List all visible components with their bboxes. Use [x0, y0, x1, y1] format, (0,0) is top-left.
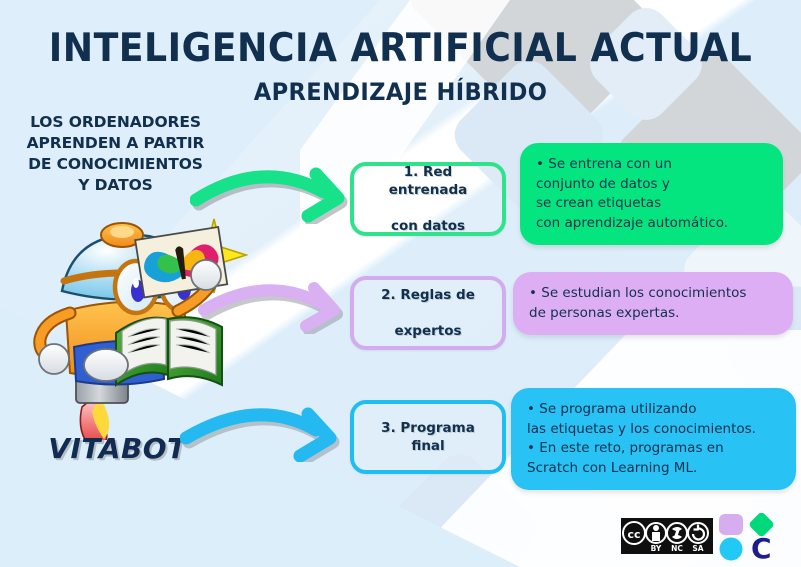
- step-3-line-1: 3. Programa final: [360, 419, 496, 455]
- panel-1-line-1: • Se entrena con un: [536, 155, 769, 175]
- panel-2-line-1: • Se estudian los conocimientos: [529, 284, 779, 304]
- step-box-1[interactable]: 1. Red entrenada con datos: [350, 162, 506, 236]
- step-box-2[interactable]: 2. Reglas de expertos: [350, 276, 506, 350]
- step-1-line-2: con datos: [360, 217, 496, 235]
- robot-hand-on-book: [84, 349, 128, 381]
- panel-3-line-1: • Se programa utilizando: [527, 400, 782, 420]
- cc-mark-label: cc: [627, 528, 640, 541]
- logo-circle: [720, 538, 743, 561]
- panel-3-line-2: las etiquetas y los conocimientos.: [527, 420, 782, 440]
- info-panel-3: • Se programa utilizando las etiquetas y…: [511, 388, 796, 490]
- panel-3-line-4: Scratch con Learning ML.: [527, 459, 782, 479]
- arrow-to-step-2: [198, 276, 358, 334]
- panel-1-line-3: se crean etiquetas: [536, 194, 769, 214]
- panel-1-line-4: con aprendizaje automático.: [536, 214, 769, 234]
- arrow-to-step-1: [190, 158, 360, 224]
- robot-left-glove: [39, 344, 69, 374]
- step-1-line-1: 1. Red entrenada: [360, 163, 496, 199]
- step-2-line-1: 2. Reglas de: [375, 286, 481, 304]
- page-title: INTELIGENCIA ARTIFICIAL ACTUAL: [28, 26, 773, 71]
- brand-logo-icon[interactable]: C: [718, 513, 780, 561]
- info-panel-2: • Se estudian los conocimientos de perso…: [513, 272, 793, 335]
- panel-1-line-2: conjunto de datos y: [536, 175, 769, 195]
- cc-term-nc: NC: [671, 544, 683, 553]
- cc-term-by: BY: [651, 544, 662, 553]
- panel-3-line-3: • En este reto, programas en: [527, 439, 782, 459]
- panel-2-line-2: de personas expertas.: [529, 304, 779, 324]
- step-2-line-2: expertos: [375, 322, 481, 340]
- infographic-poster: INTELIGENCIA ARTIFICIAL ACTUAL APRENDIZA…: [0, 0, 801, 567]
- step-box-3[interactable]: 3. Programa final: [350, 400, 506, 474]
- person-icon: [652, 525, 660, 541]
- lead-line-1: LOS ORDENADORES: [8, 112, 223, 133]
- page-subtitle: APRENDIZAJE HÍBRIDO: [24, 78, 777, 106]
- info-panel-1: • Se entrena con un conjunto de datos y …: [520, 143, 783, 245]
- lead-line-2: APRENDEN A PARTIR: [8, 133, 223, 154]
- creative-commons-icon[interactable]: cc BY NC SA: [621, 518, 713, 554]
- logo-letter: C: [751, 532, 772, 561]
- arrow-to-step-3: [180, 400, 358, 462]
- cc-term-sa: SA: [692, 544, 703, 553]
- logo-square: [719, 514, 743, 535]
